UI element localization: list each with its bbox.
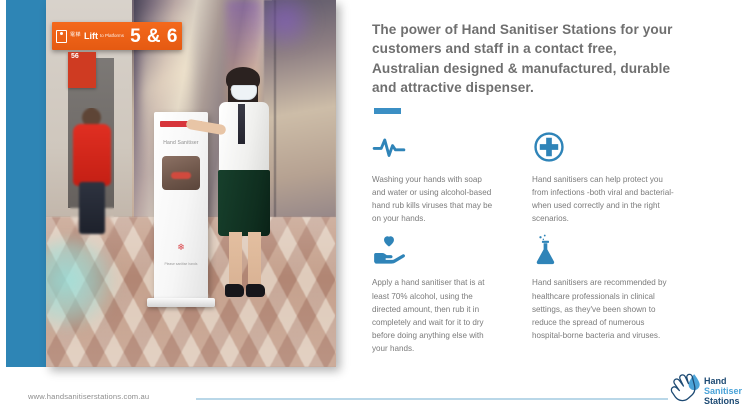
- feature-grid: Washing your hands with soap and water o…: [372, 130, 702, 355]
- heartbeat-pulse-icon: [372, 130, 406, 164]
- logo-wordmark: Hand Sanitiser Stations: [704, 376, 742, 406]
- sign-sub-label: to Platforms: [100, 34, 124, 39]
- student-shoe-right: [246, 284, 265, 297]
- station-footnote: Please sanitise hands: [154, 262, 208, 266]
- station-base-plate: [147, 298, 215, 307]
- photo-scene: 電梯 Lift to Platforms 5 & 6 56 Hand Sanit…: [46, 0, 336, 367]
- sign-numbers: 5 & 6: [130, 27, 178, 46]
- station-dispenser-nozzle: [162, 156, 200, 190]
- feature-text: Washing your hands with soap and water o…: [372, 173, 494, 225]
- person-red-jacket: [73, 124, 111, 186]
- content-column: The power of Hand Sanitiser Stations for…: [372, 0, 702, 414]
- student-skirt: [218, 170, 270, 236]
- feature-block-washing: Washing your hands with soap and water o…: [372, 130, 532, 225]
- hero-photo: 電梯 Lift to Platforms 5 & 6 56 Hand Sanit…: [46, 0, 336, 367]
- footer-website-url[interactable]: www.handsanitiserstations.com.au: [28, 392, 149, 401]
- person-legs: [79, 182, 105, 234]
- feature-block-apply: Apply a hand sanitiser that is at least …: [372, 225, 532, 355]
- medical-cross-circle-icon: [532, 130, 566, 164]
- student-leg-right: [248, 232, 261, 288]
- photo-background-person: [70, 108, 114, 238]
- hand-holding-heart-icon: [372, 233, 406, 267]
- sign-lift-label: Lift: [84, 32, 98, 41]
- feature-text: Apply a hand sanitiser that is at least …: [372, 276, 494, 355]
- logo-line-2: Sanitiser: [704, 386, 742, 396]
- feature-block-clinical: Hand sanitisers are recommended by healt…: [532, 225, 702, 355]
- photo-red-placard: 56: [68, 52, 96, 88]
- brand-logo: Hand Sanitiser Stations: [666, 368, 744, 412]
- heading-accent-dash: [374, 108, 401, 114]
- feature-block-protection: Hand sanitisers can help protect you fro…: [532, 130, 702, 225]
- logo-line-1: Hand: [704, 376, 742, 386]
- logo-line-3: Stations: [704, 396, 742, 406]
- student-leg-left: [229, 232, 242, 288]
- photo-lift-sign: 電梯 Lift to Platforms 5 & 6: [52, 22, 182, 50]
- photo-student: [214, 70, 286, 306]
- feature-text: Hand sanitisers are recommended by healt…: [532, 276, 674, 342]
- photo-sanitiser-station: Hand Sanitiser ❄ Please sanitise hands: [154, 112, 208, 302]
- student-shoe-left: [225, 284, 244, 297]
- station-label: Hand Sanitiser: [154, 140, 208, 146]
- lift-person-icon: [56, 30, 67, 43]
- flask-icon: [532, 233, 566, 267]
- student-face-mask: [231, 85, 257, 100]
- student-tie: [238, 104, 245, 144]
- station-logo-mark: ❄: [154, 242, 208, 253]
- placard-number: 56: [71, 53, 79, 60]
- footer-divider-line: [196, 398, 668, 400]
- sign-cjk-text: 電梯: [70, 33, 81, 38]
- hand-with-water-droplet-icon: [668, 372, 706, 408]
- person-head: [82, 108, 101, 127]
- slide-canvas: 電梯 Lift to Platforms 5 & 6 56 Hand Sanit…: [0, 0, 748, 414]
- left-accent-bar: [6, 0, 46, 367]
- page-title: The power of Hand Sanitiser Stations for…: [372, 20, 684, 97]
- feature-text: Hand sanitisers can help protect you fro…: [532, 173, 674, 225]
